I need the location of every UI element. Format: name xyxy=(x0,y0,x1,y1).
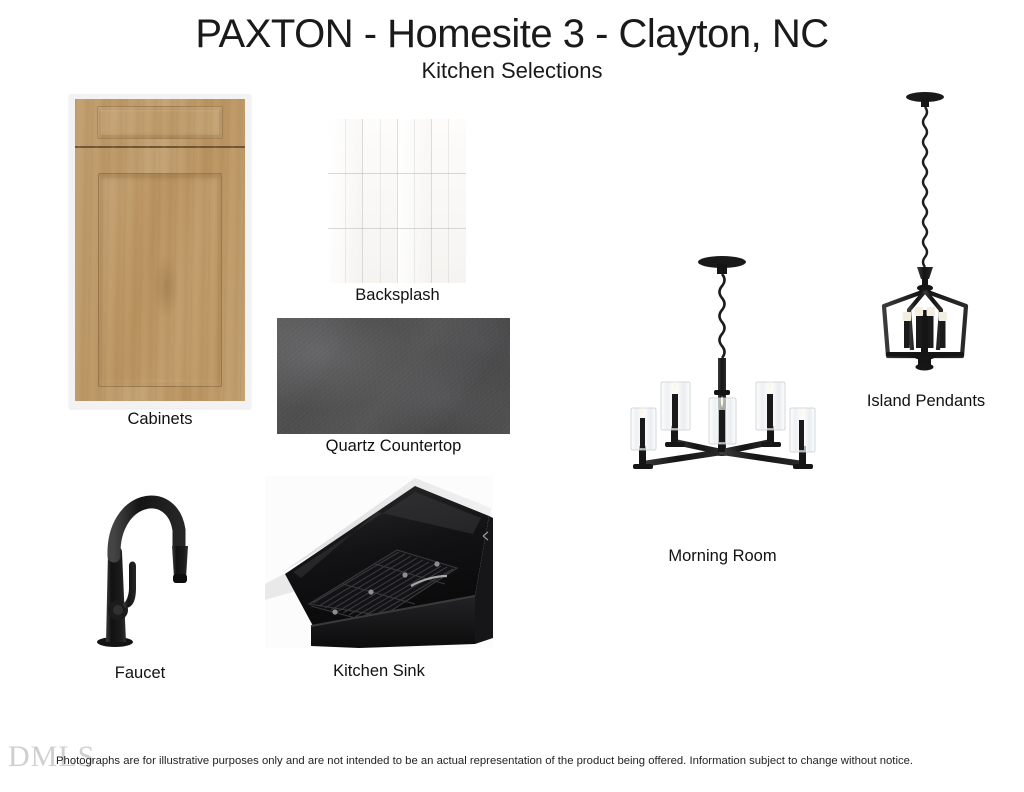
faucet-image xyxy=(76,456,204,658)
tile-swatch xyxy=(328,119,466,283)
faucet-label: Faucet xyxy=(76,664,204,683)
selections-sheet: PAXTON - Homesite 3 - Clayton, NC Kitche… xyxy=(0,0,1024,792)
disclaimer-text: Photographs are for illustrative purpose… xyxy=(56,755,1016,767)
quartz-swatch xyxy=(277,318,510,434)
morning-room-label: Morning Room xyxy=(615,547,830,566)
cabinet-drawer-front xyxy=(75,99,245,148)
page-title: PAXTON - Homesite 3 - Clayton, NC xyxy=(0,12,1024,56)
cabinets-label: Cabinets xyxy=(69,410,251,429)
backsplash-label: Backsplash xyxy=(310,286,485,305)
countertop-label: Quartz Countertop xyxy=(277,437,510,456)
page-subtitle: Kitchen Selections xyxy=(0,58,1024,84)
lantern-pendant-image xyxy=(862,88,989,384)
island-pendants-label: Island Pendants xyxy=(855,392,997,411)
chandelier-image xyxy=(615,250,830,542)
cabinet-door-front xyxy=(75,150,245,401)
farmhouse-sink-image xyxy=(265,476,493,648)
cabinet-door-swatch xyxy=(69,94,251,408)
kitchen-sink-label: Kitchen Sink xyxy=(265,662,493,681)
